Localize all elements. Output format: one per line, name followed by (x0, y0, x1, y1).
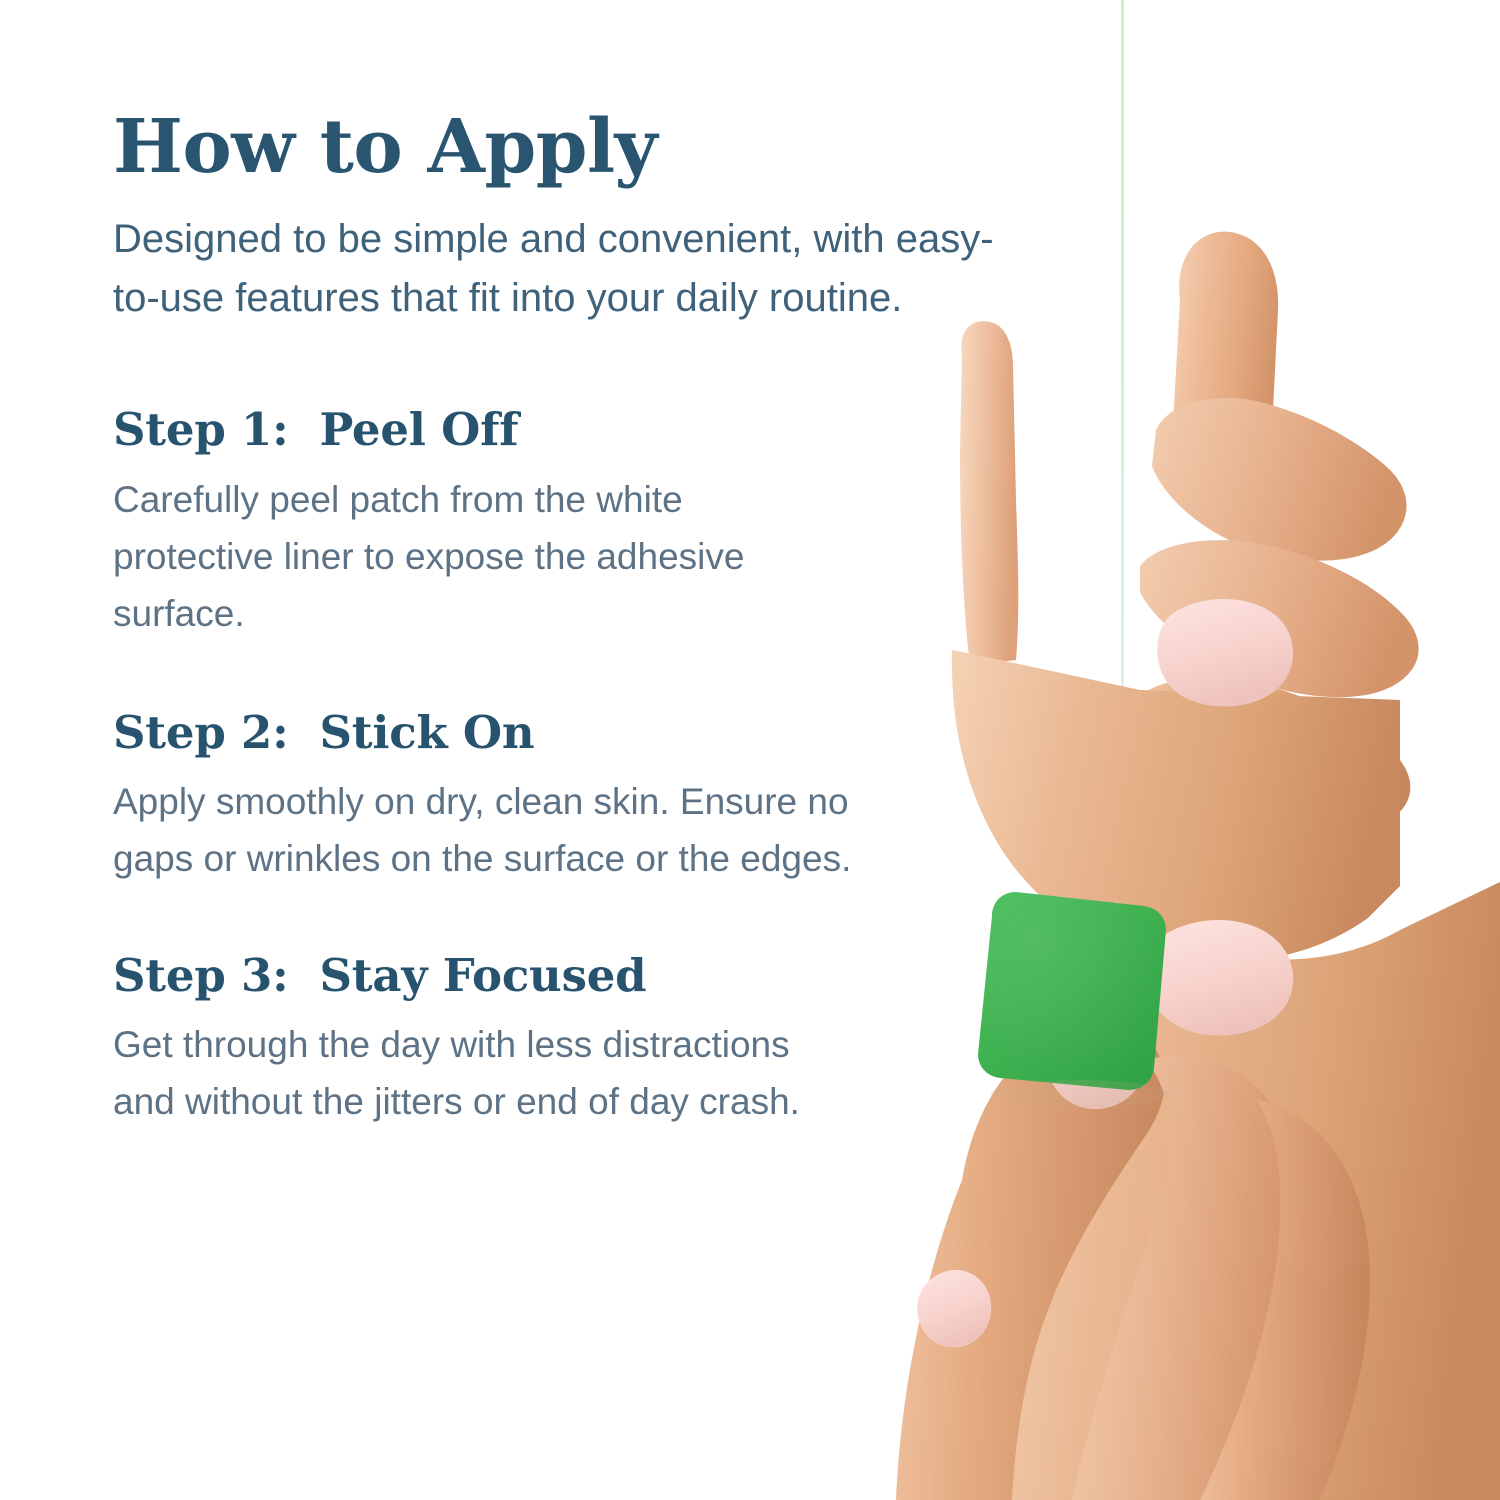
page-title: How to Apply (113, 0, 1043, 184)
step-2-body: Apply smoothly on dry, clean skin. Ensur… (113, 756, 853, 888)
middle-finger (1152, 398, 1407, 561)
lower-finger-nail (917, 1270, 991, 1348)
step-block-2: Step 2: Stick On Apply smoothly on dry, … (113, 643, 1043, 888)
how-to-apply-infographic: How to Apply Designed to be simple and c… (0, 0, 1500, 1500)
ring-finger-nail (1146, 920, 1293, 1036)
step-3-body: Get through the day with less distractio… (113, 999, 853, 1131)
step-2-heading: Step 2: Stick On (113, 709, 1043, 756)
step-block-1: Step 1: Peel Off Carefully peel patch fr… (113, 328, 1043, 642)
step-1-body: Carefully peel patch from the white prot… (113, 454, 853, 643)
step-3-heading: Step 3: Stay Focused (113, 952, 1043, 999)
text-column: How to Apply Designed to be simple and c… (113, 0, 1043, 1131)
intro-paragraph: Designed to be simple and convenient, wi… (113, 184, 1028, 328)
step-block-3: Step 3: Stay Focused Get through the day… (113, 888, 1043, 1131)
step-1-heading: Step 1: Peel Off (113, 406, 1043, 453)
middle-finger-nail (1157, 599, 1293, 707)
